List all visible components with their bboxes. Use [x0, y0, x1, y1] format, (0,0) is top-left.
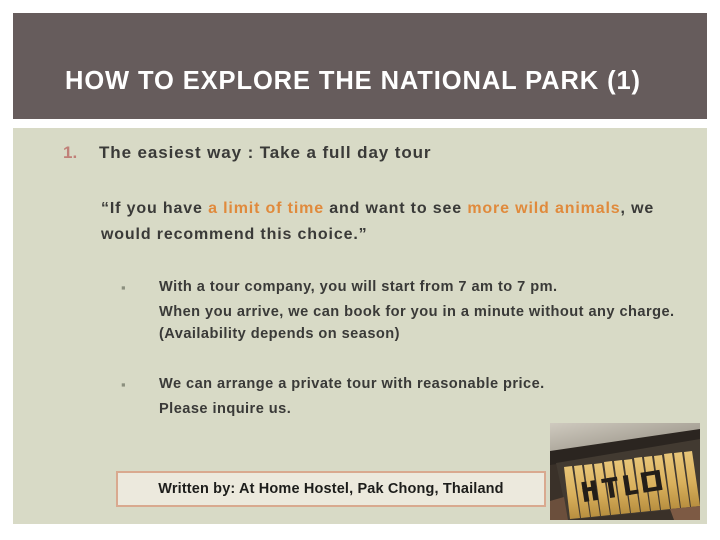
at-home-sign-photo	[550, 423, 700, 520]
quote-highlight-more-wild-animals: more wild animals	[467, 200, 620, 217]
list-item-text: With a tour company, you will start from…	[159, 276, 681, 346]
page-title: HOW TO EXPLORE THE NATIONAL PARK (1)	[13, 37, 641, 95]
at-home-sign-illustration	[550, 423, 700, 520]
list-item: ▪ With a tour company, you will start fr…	[121, 276, 681, 346]
written-by-text: Written by: At Home Hostel, Pak Chong, T…	[158, 481, 503, 497]
list-item-line: Please inquire us.	[159, 398, 545, 420]
quote-part-open: “If you have	[101, 200, 208, 217]
bullet-list: ▪ With a tour company, you will start fr…	[121, 276, 681, 420]
quote-highlight-limit-of-time: a limit of time	[208, 200, 324, 217]
quote-part-middle: and want to see	[324, 200, 467, 217]
list-item-label: The easiest way : Take a full day tour	[99, 143, 431, 163]
numbered-list-item: 1. The easiest way : Take a full day tou…	[63, 143, 431, 163]
list-item-line: We can arrange a private tour with reaso…	[159, 373, 545, 395]
list-item-line: When you arrive, we can book for you in …	[159, 301, 681, 345]
list-number-marker: 1.	[63, 143, 99, 163]
square-bullet-icon: ▪	[121, 276, 159, 298]
list-item: ▪ We can arrange a private tour with rea…	[121, 373, 681, 420]
list-item-line: With a tour company, you will start from…	[159, 276, 681, 298]
slide: HOW TO EXPLORE THE NATIONAL PARK (1) 1. …	[0, 0, 720, 540]
slide-title-band: HOW TO EXPLORE THE NATIONAL PARK (1)	[13, 13, 707, 119]
list-item-text: We can arrange a private tour with reaso…	[159, 373, 545, 420]
square-bullet-icon: ▪	[121, 373, 159, 395]
quote-paragraph: “If you have a limit of time and want to…	[101, 196, 671, 248]
written-by-callout: Written by: At Home Hostel, Pak Chong, T…	[116, 471, 546, 507]
